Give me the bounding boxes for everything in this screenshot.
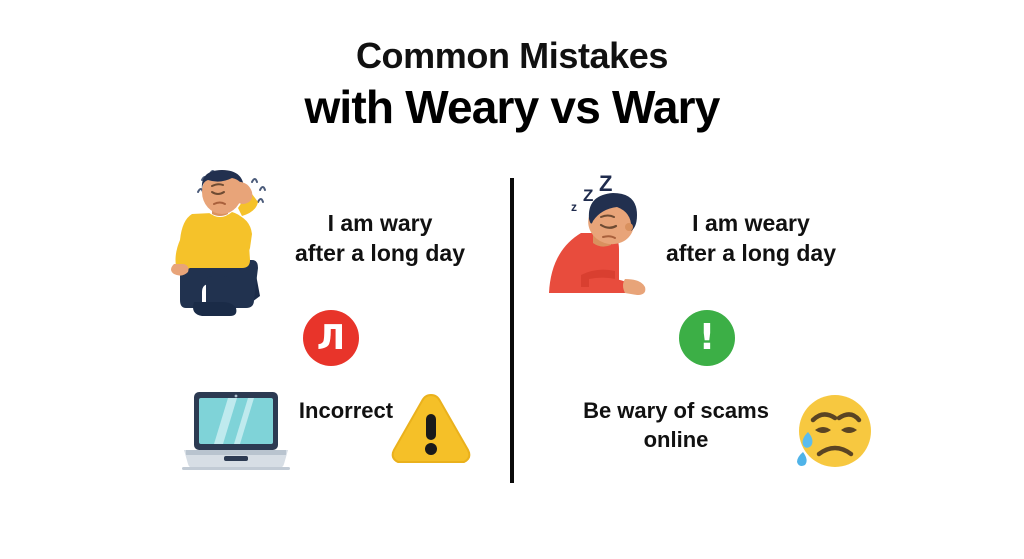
exclamation-mark-icon: ! xyxy=(679,310,735,366)
sad-crying-face-icon xyxy=(793,392,873,470)
title-line-2: with Weary vs Wary xyxy=(0,80,1024,134)
title-line-1: Common Mistakes xyxy=(0,34,1024,78)
warning-triangle-icon xyxy=(390,392,472,468)
right-footer-caption: Be wary of scams online xyxy=(560,396,792,454)
svg-text:z: z xyxy=(571,200,577,214)
cross-mark-icon: Л xyxy=(303,310,359,366)
laptop-icon xyxy=(182,388,290,472)
right-phrase-text: I am weary after a long day xyxy=(652,208,850,268)
exclamation-mark-glyph: ! xyxy=(699,321,715,355)
tired-man-sitting-icon xyxy=(168,168,280,320)
cross-mark-glyph: Л xyxy=(317,321,345,355)
left-phrase-text: I am wary after a long day xyxy=(278,208,482,268)
infographic-canvas: Common Mistakes with Weary vs Wary xyxy=(0,0,1024,559)
svg-text:Z: Z xyxy=(599,175,612,196)
page-title: Common Mistakes with Weary vs Wary xyxy=(0,34,1024,134)
column-divider xyxy=(510,178,514,483)
svg-text:Z: Z xyxy=(583,186,593,205)
sleeping-person-icon: Z Z z xyxy=(545,175,657,297)
